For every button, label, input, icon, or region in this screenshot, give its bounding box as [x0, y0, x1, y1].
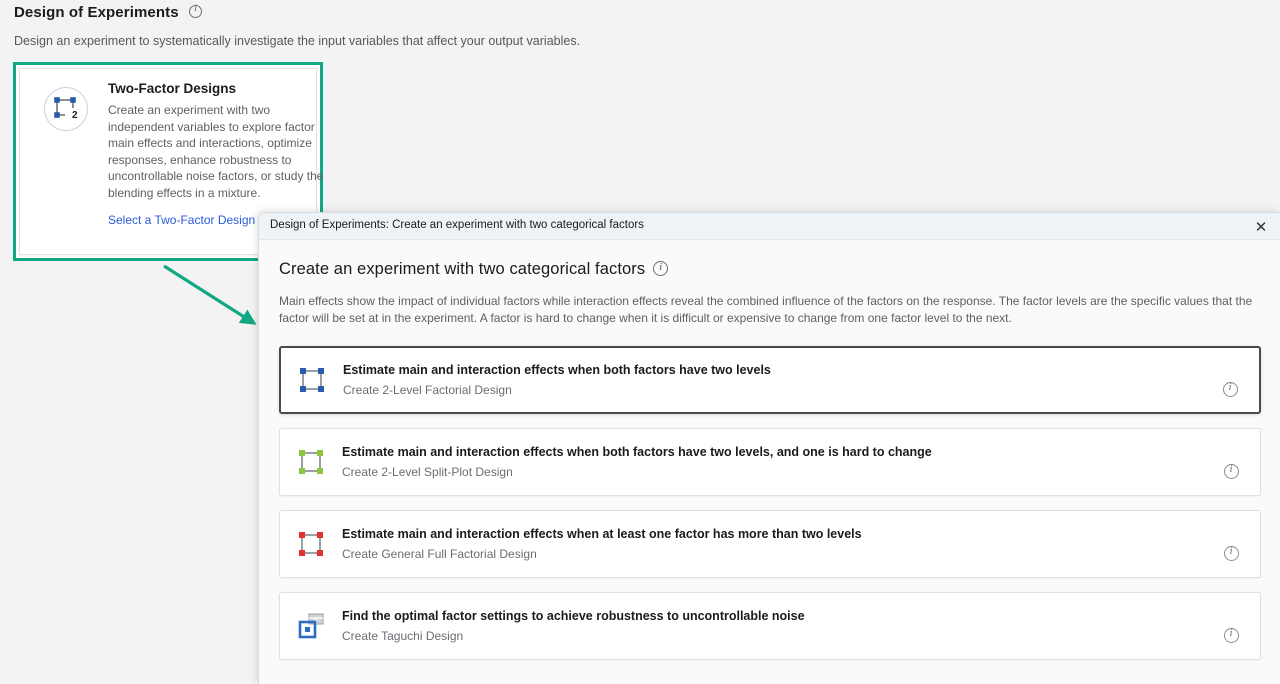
option-text: Estimate main and interaction effects wh… — [342, 445, 1202, 479]
option-text: Find the optimal factor settings to achi… — [342, 609, 1202, 643]
option-subtitle: Create 2-Level Factorial Design — [343, 383, 1201, 397]
design-option-list: Estimate main and interaction effects wh… — [279, 346, 1261, 660]
general-full-factorial-glyph — [298, 531, 324, 557]
page-title: Design of Experiments — [14, 4, 179, 21]
card-title: Two-Factor Designs — [108, 81, 308, 96]
option-title: Estimate main and interaction effects wh… — [343, 363, 1201, 377]
general-full-factorial-icon — [280, 531, 342, 557]
dialog-titlebar: Design of Experiments: Create an experim… — [259, 213, 1280, 240]
card-body: Two-Factor Designs Create an experiment … — [108, 81, 308, 229]
dialog-body: Create an experiment with two categorica… — [259, 240, 1280, 660]
page-title-info-icon[interactable] — [189, 5, 202, 18]
taguchi-design-icon — [280, 613, 342, 639]
option-text: Estimate main and interaction effects wh… — [343, 363, 1201, 397]
page-header: Design of Experiments — [14, 4, 714, 22]
page-subtitle: Design an experiment to systematically i… — [14, 34, 580, 48]
option-info-wrap — [1202, 628, 1260, 643]
app-root: Design of Experiments Design an experime… — [0, 0, 1280, 684]
info-icon[interactable] — [1223, 382, 1238, 397]
option-text: Estimate main and interaction effects wh… — [342, 527, 1202, 561]
factorial-design-icon — [281, 367, 343, 393]
dialog-heading-info-icon[interactable] — [653, 261, 668, 276]
option-info-wrap — [1202, 546, 1260, 561]
split-plot-design-glyph — [298, 449, 324, 475]
close-icon[interactable]: ✕ — [1250, 216, 1272, 238]
option-title: Estimate main and interaction effects wh… — [342, 527, 1202, 541]
create-experiment-dialog: Design of Experiments: Create an experim… — [258, 212, 1280, 684]
option-info-wrap — [1202, 464, 1260, 479]
option-subtitle: Create Taguchi Design — [342, 629, 1202, 643]
option-title: Estimate main and interaction effects wh… — [342, 445, 1202, 459]
card-description: Create an experiment with two independen… — [108, 102, 328, 201]
option-title: Find the optimal factor settings to achi… — [342, 609, 1202, 623]
option-subtitle: Create General Full Factorial Design — [342, 547, 1202, 561]
info-icon[interactable] — [1224, 464, 1239, 479]
option-row-factorial[interactable]: Estimate main and interaction effects wh… — [279, 346, 1261, 414]
svg-text:2: 2 — [72, 110, 78, 121]
dialog-description: Main effects show the impact of individu… — [279, 293, 1269, 326]
dialog-heading: Create an experiment with two categorica… — [279, 260, 1261, 279]
select-two-factor-design-link[interactable]: Select a Two-Factor Design — [108, 213, 255, 227]
option-row-general-full-factorial[interactable]: Estimate main and interaction effects wh… — [279, 510, 1261, 578]
dialog-titlebar-text: Design of Experiments: Create an experim… — [270, 219, 644, 231]
dialog-heading-text: Create an experiment with two categorica… — [279, 260, 645, 279]
info-icon[interactable] — [1224, 628, 1239, 643]
option-row-split-plot[interactable]: Estimate main and interaction effects wh… — [279, 428, 1261, 496]
option-row-taguchi[interactable]: Find the optimal factor settings to achi… — [279, 592, 1261, 660]
two-factor-design-icon: 2 — [44, 87, 88, 131]
taguchi-design-glyph — [298, 613, 324, 639]
split-plot-design-icon — [280, 449, 342, 475]
info-icon[interactable] — [1224, 546, 1239, 561]
option-info-wrap — [1201, 382, 1259, 397]
factorial-design-glyph — [299, 367, 325, 393]
option-subtitle: Create 2-Level Split-Plot Design — [342, 465, 1202, 479]
two-factor-design-glyph: 2 — [51, 94, 81, 124]
